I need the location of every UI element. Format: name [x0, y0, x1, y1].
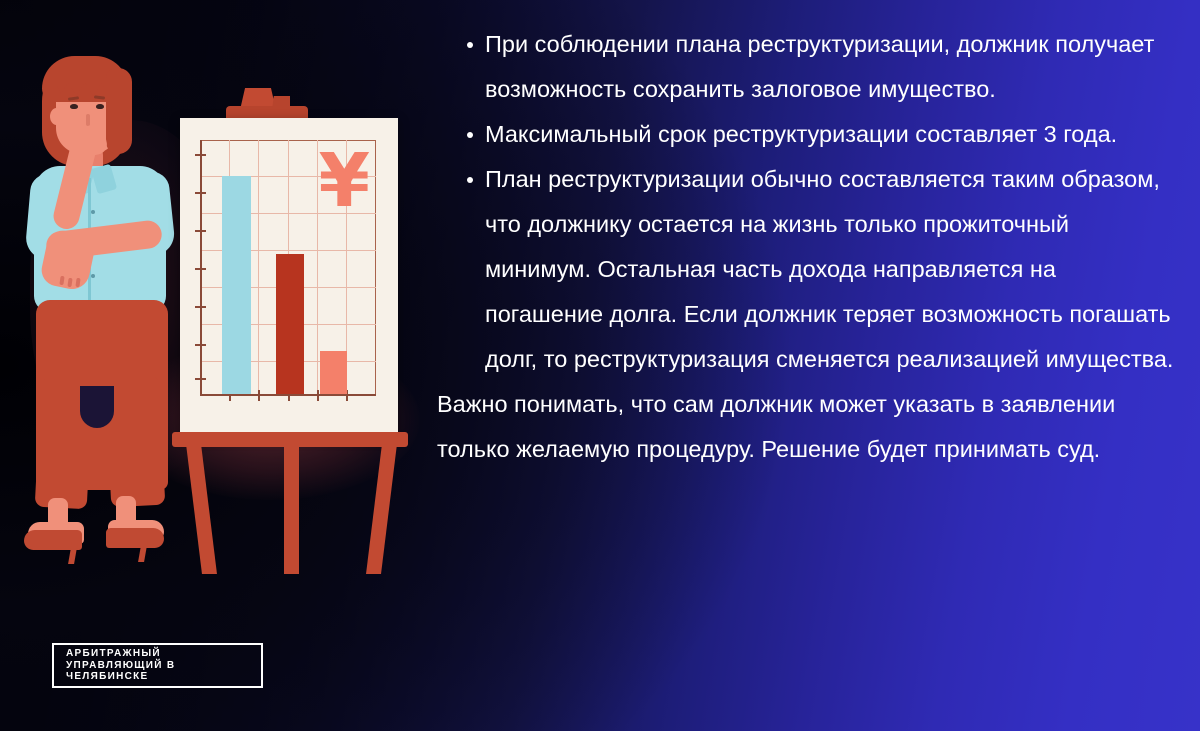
gridline-vertical — [258, 140, 259, 396]
chart-bar — [320, 351, 347, 394]
pants-gap — [80, 386, 114, 428]
x-axis-tick — [317, 390, 319, 401]
eye-left — [70, 104, 78, 109]
list-item: План реструктуризации обычно составляетс… — [437, 157, 1177, 382]
easel-leg — [284, 444, 299, 574]
hair-side — [106, 68, 132, 154]
list-item: Максимальный срок реструктуризации соста… — [437, 112, 1177, 157]
shirt-button — [91, 210, 95, 214]
chart-plot-area: ¥ — [200, 140, 376, 396]
yen-currency-icon: ¥ — [319, 150, 371, 214]
slide-root: ¥ АРБИТРАЖНЫЙ УПРАВЛЯЮЩИЙ В ЧЕЛЯБИНСКЕ П… — [0, 0, 1200, 731]
y-axis-tick — [195, 154, 206, 156]
chart-bar — [276, 254, 304, 394]
y-axis-tick — [195, 344, 206, 346]
illustration: ¥ — [0, 40, 440, 600]
bullet-list: При соблюдении плана реструктуризации, д… — [437, 22, 1177, 382]
y-axis-tick — [195, 192, 206, 194]
chart-board: ¥ — [180, 118, 398, 436]
shirt-button — [91, 274, 95, 278]
easel: ¥ — [168, 70, 430, 570]
ear — [50, 108, 63, 125]
y-axis-tick — [195, 230, 206, 232]
plot-frame-right — [375, 140, 376, 396]
content-column: При соблюдении плана реструктуризации, д… — [437, 22, 1177, 472]
easel-leg — [186, 444, 217, 574]
y-axis-tick — [195, 306, 206, 308]
shoe-right — [106, 528, 164, 548]
closing-paragraph: Важно понимать, что сам должник может ук… — [437, 382, 1177, 472]
nose — [86, 114, 90, 126]
list-item: При соблюдении плана реструктуризации, д… — [437, 22, 1177, 112]
y-axis-tick — [195, 268, 206, 270]
logo-badge[interactable]: АРБИТРАЖНЫЙ УПРАВЛЯЮЩИЙ В ЧЕЛЯБИНСКЕ — [52, 643, 263, 688]
y-axis-tick — [195, 378, 206, 380]
logo-text: АРБИТРАЖНЫЙ УПРАВЛЯЮЩИЙ В ЧЕЛЯБИНСКЕ — [54, 648, 175, 683]
easel-leg — [366, 444, 397, 574]
x-axis-tick — [258, 390, 260, 401]
eye-right — [96, 104, 104, 109]
chart-bar — [222, 176, 251, 394]
